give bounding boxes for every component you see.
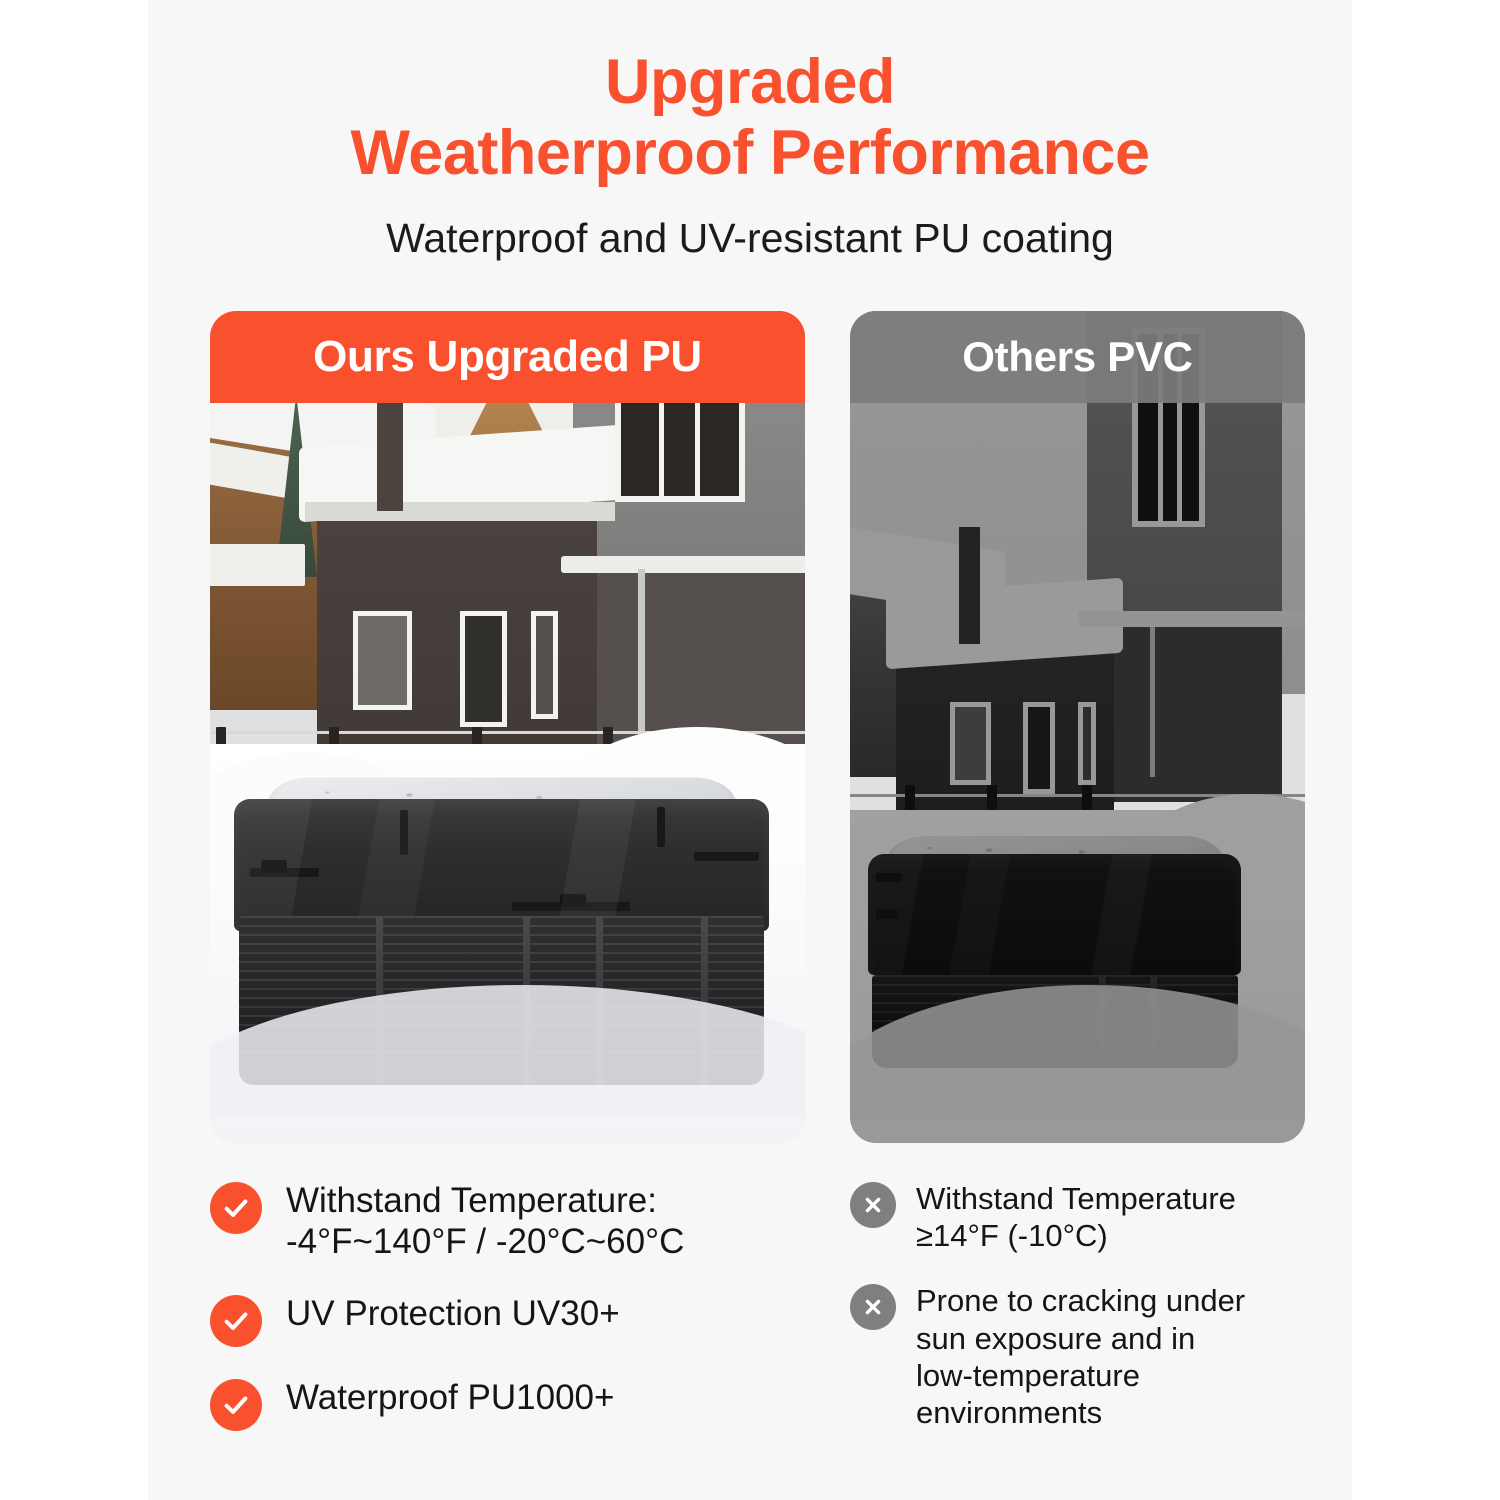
photo-ours [210,311,805,1143]
cover-strap [876,873,902,882]
content-card: Upgraded Weatherproof Performance Waterp… [148,0,1352,1500]
title-line-2: Weatherproof Performance [148,118,1352,189]
pu-cover-skirt [234,799,770,931]
x-icon [850,1284,896,1330]
list-item-line: sun exposure and in [916,1320,1245,1357]
cover-strap [657,807,665,847]
list-item-line: UV Protection UV30+ [286,1293,620,1334]
comparison-panels: Ours Upgraded PU [210,311,1305,1143]
feature-list-others: Withstand Temperature ≥14°F (-10°C) Pron… [850,1180,1305,1461]
title-line-1: Upgraded [605,47,895,117]
list-item-line: -4°F~140°F / -20°C~60°C [286,1221,684,1262]
page-title: Upgraded Weatherproof Performance [148,47,1352,189]
downspout [1150,627,1155,777]
panel-header-ours-label: Ours Upgraded PU [313,332,702,382]
panel-header-ours: Ours Upgraded PU [210,311,805,403]
photo-others [850,311,1305,1143]
list-item-line: Prone to cracking under [916,1282,1245,1319]
list-item: UV Protection UV30+ [210,1293,805,1347]
cabin-awning [210,544,305,586]
window-right [531,611,558,719]
x-icon [850,1182,896,1228]
infographic-page: Upgraded Weatherproof Performance Waterp… [0,0,1500,1500]
list-item-line: low-temperature [916,1357,1245,1394]
list-item-text: Withstand Temperature: -4°F~140°F / -20°… [286,1180,684,1263]
gray-house-eave [1078,611,1306,628]
list-item-line: Withstand Temperature [916,1180,1236,1217]
list-item-text: UV Protection UV30+ [286,1293,620,1334]
check-icon [210,1379,262,1431]
list-item-text: Waterproof PU1000+ [286,1377,614,1418]
chimney [377,386,404,511]
window-right [1078,702,1096,785]
downspout [638,569,645,735]
window-left [353,611,413,711]
check-icon [210,1182,262,1234]
mid-house-eave [305,502,614,520]
door-glass [460,611,508,727]
cover-strap [876,910,898,919]
panel-header-others: Others PVC [850,311,1305,403]
list-item-text: Prone to cracking under sun exposure and… [916,1282,1245,1431]
door-glass [1023,702,1055,794]
list-item-line: environments [916,1394,1245,1431]
gray-house-eave [561,556,805,573]
chimney [959,527,979,643]
panel-others: Others PVC [850,311,1305,1143]
feature-list-ours: Withstand Temperature: -4°F~140°F / -20°… [210,1180,805,1461]
cover-buckle [560,894,586,907]
pvc-cover-skirt [868,854,1241,975]
panel-ours: Ours Upgraded PU [210,311,805,1143]
feature-lists: Withstand Temperature: -4°F~140°F / -20°… [210,1180,1310,1461]
list-item: Prone to cracking under sun exposure and… [850,1282,1305,1431]
window-left [950,702,991,785]
list-item-line: Waterproof PU1000+ [286,1377,614,1418]
list-item: Withstand Temperature ≥14°F (-10°C) [850,1180,1305,1254]
cover-strap [250,868,320,877]
list-item: Withstand Temperature: -4°F~140°F / -20°… [210,1180,805,1263]
check-icon [210,1295,262,1347]
cover-strap [400,810,408,855]
cover-strap [512,902,630,911]
page-subtitle: Waterproof and UV-resistant PU coating [148,214,1352,263]
list-item-text: Withstand Temperature ≥14°F (-10°C) [916,1180,1236,1254]
list-item: Waterproof PU1000+ [210,1377,805,1431]
cover-buckle [261,860,287,873]
list-item-line: Withstand Temperature: [286,1180,684,1221]
cover-strap [694,852,758,861]
list-item-line: ≥14°F (-10°C) [916,1217,1236,1254]
panel-header-others-label: Others PVC [962,333,1192,381]
